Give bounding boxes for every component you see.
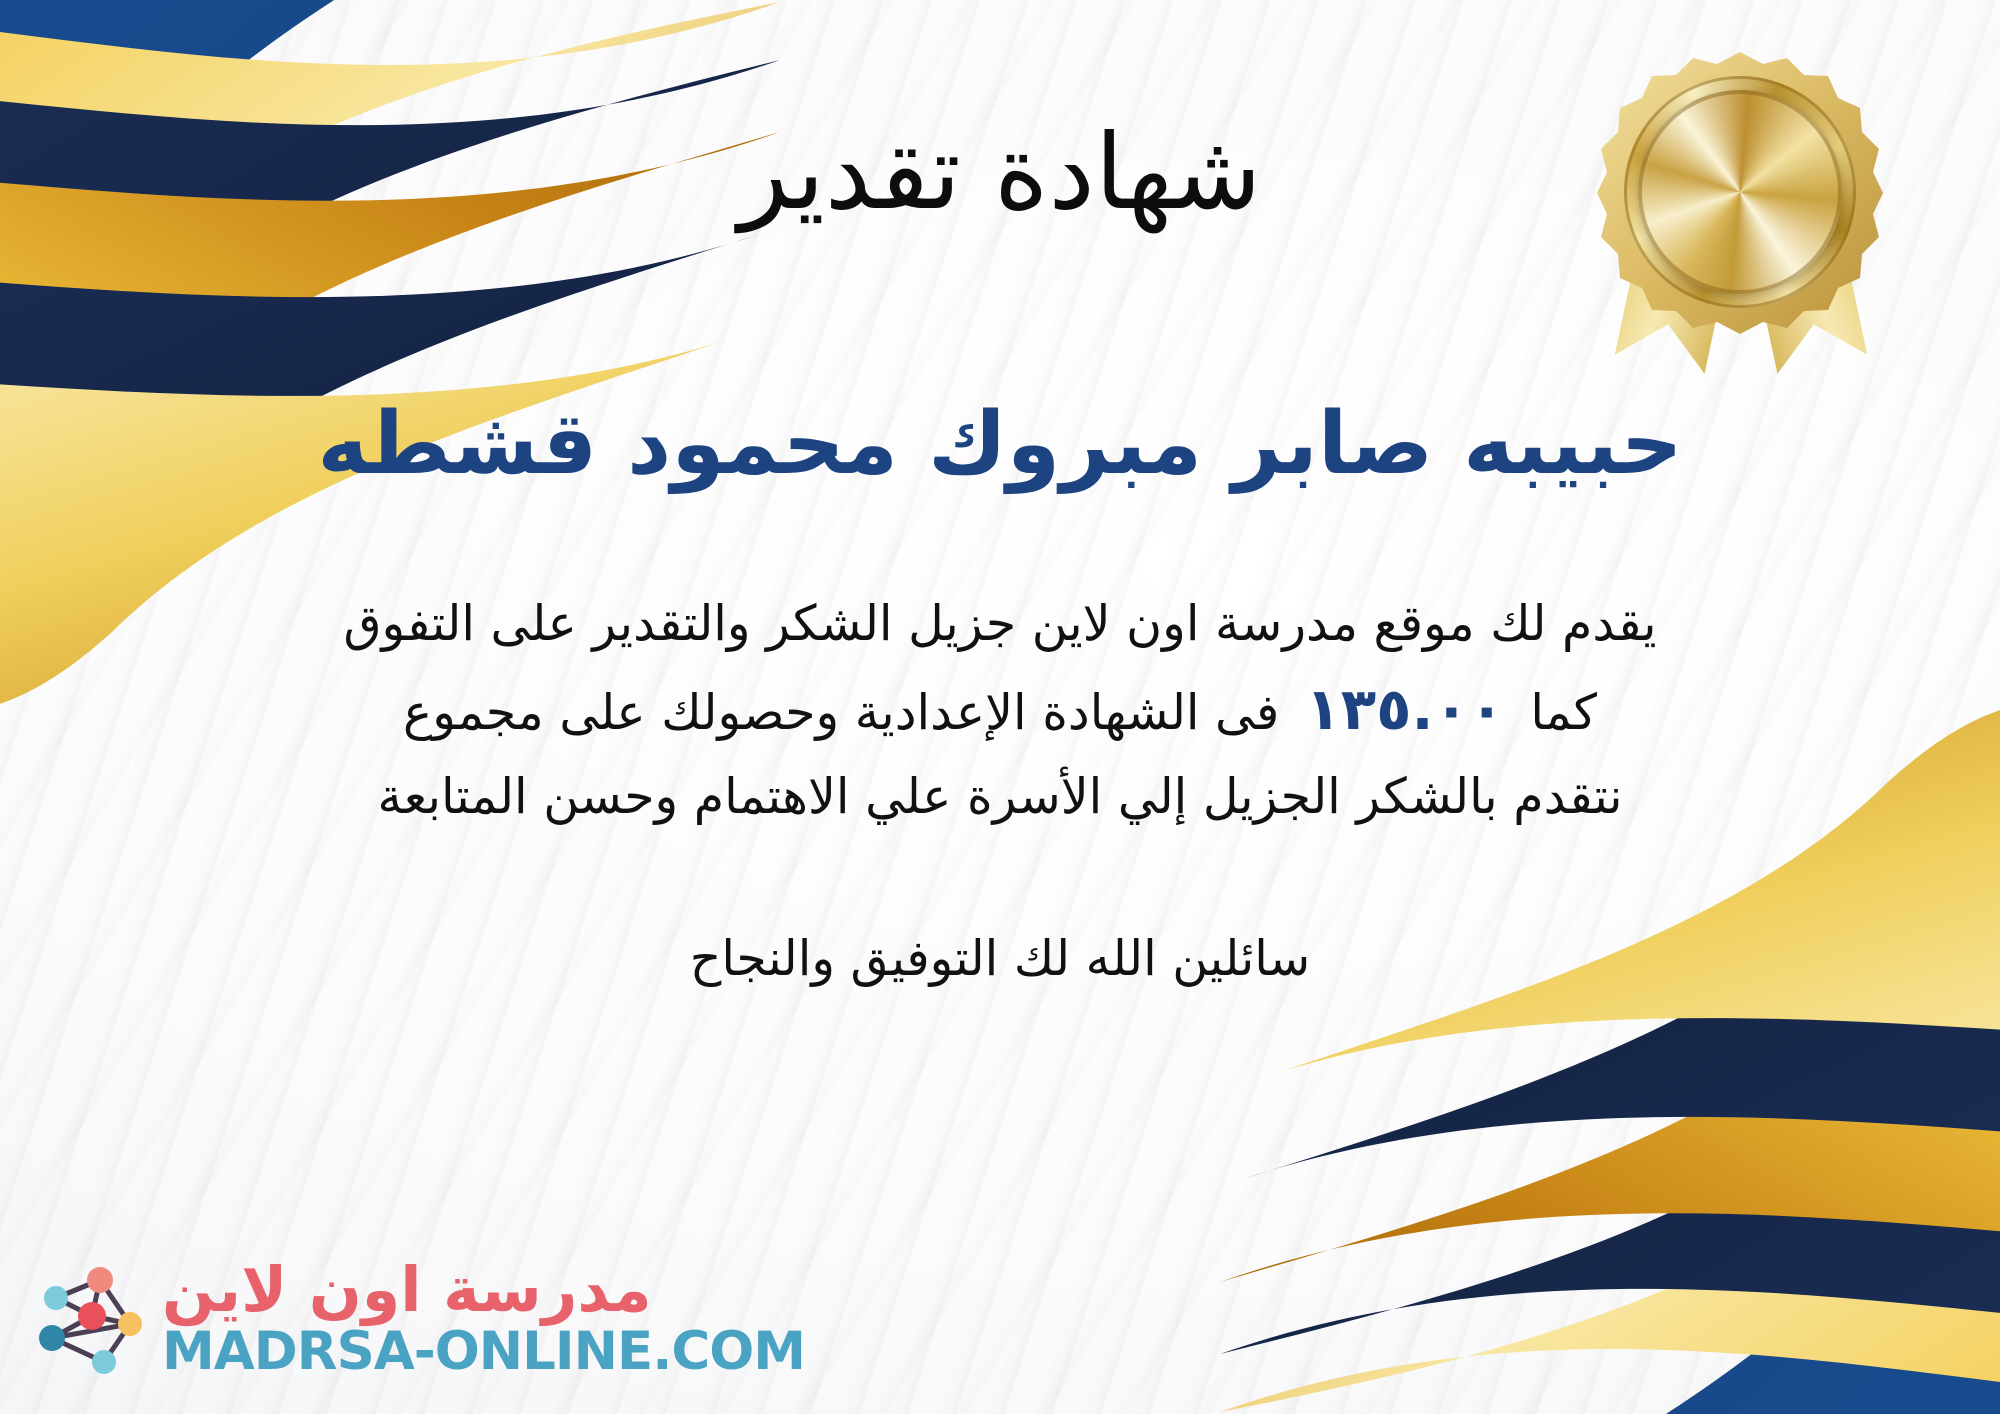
body-line-2-right-text: فى الشهادة الإعدادية وحصولك على مجموع bbox=[403, 684, 1279, 741]
body-line-2: كما١٣٥.٠٠فى الشهادة الإعدادية وحصولك على… bbox=[220, 663, 1780, 757]
body-line-2-left-text: كما bbox=[1530, 684, 1597, 741]
node-lightblue-top bbox=[44, 1286, 68, 1310]
logo-website: MADRSA-ONLINE.COM bbox=[162, 1325, 805, 1378]
brand-logo[interactable]: مدرسة اون لاين MADRSA-ONLINE.COM bbox=[26, 1238, 546, 1398]
certificate-title: شهادة تقدير bbox=[0, 0, 2000, 227]
logo-arabic-name: مدرسة اون لاين bbox=[162, 1259, 652, 1321]
body-line-3: نتقدم بالشكر الجزيل إلي الأسرة علي الاهت… bbox=[220, 757, 1780, 836]
node-yellow bbox=[118, 1312, 142, 1336]
certificate-content: شهادة تقدير حبيبه صابر مبروك محمود قشطه … bbox=[0, 0, 2000, 996]
node-lightblue-bottom bbox=[92, 1350, 116, 1374]
certificate-canvas: شهادة تقدير حبيبه صابر مبروك محمود قشطه … bbox=[0, 0, 2000, 1414]
grade-value: ١٣٥.٠٠ bbox=[1279, 675, 1530, 743]
node-darkblue bbox=[39, 1325, 65, 1351]
certificate-body: يقدم لك موقع مدرسة اون لاين جزيل الشكر و… bbox=[220, 492, 1780, 837]
logo-text-block: مدرسة اون لاين MADRSA-ONLINE.COM bbox=[162, 1259, 805, 1378]
recipient-name: حبيبه صابر مبروك محمود قشطه bbox=[0, 227, 2000, 492]
body-line-1: يقدم لك موقع مدرسة اون لاين جزيل الشكر و… bbox=[220, 584, 1780, 663]
node-salmon bbox=[87, 1267, 113, 1293]
node-red bbox=[78, 1302, 106, 1330]
network-nodes-icon bbox=[26, 1254, 154, 1382]
closing-line: سائلين الله لك التوفيق والنجاح bbox=[0, 836, 2000, 996]
